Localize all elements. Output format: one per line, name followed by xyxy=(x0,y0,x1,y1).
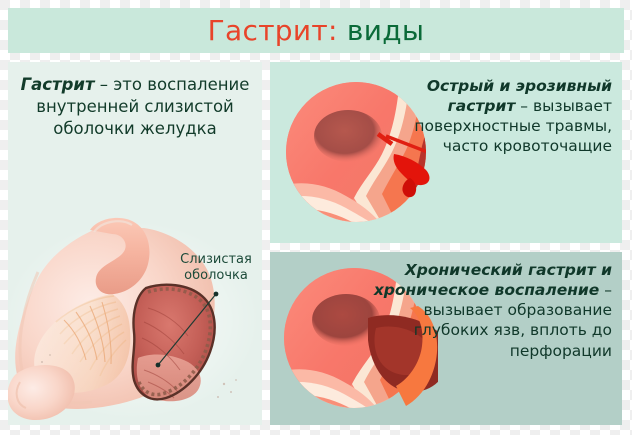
page-title-subject: виды xyxy=(338,14,425,47)
chronic-gastritis-term: Хронический гастрит и хроническое воспал… xyxy=(374,261,612,299)
acute-gastritis-text: Острый и эрозивный гастрит – вызывает по… xyxy=(380,76,612,157)
callout-leader-line xyxy=(8,62,262,425)
page-title: Гастрит: виды xyxy=(8,8,624,53)
panel-chronic-gastritis: Хронический гастрит и хроническое воспал… xyxy=(270,252,622,425)
chronic-gastritis-text: Хронический гастрит и хроническое воспал… xyxy=(366,260,612,361)
header-bar: Гастрит: виды xyxy=(8,8,624,53)
panel-definition: Гастрит – это воспаление внутренней слиз… xyxy=(8,62,262,425)
mucosa-callout-label: Слизистая оболочка xyxy=(168,252,262,285)
panel-acute-gastritis: Острый и эрозивный гастрит – вызывает по… xyxy=(270,62,622,243)
page-title-term: Гастрит: xyxy=(208,14,338,47)
